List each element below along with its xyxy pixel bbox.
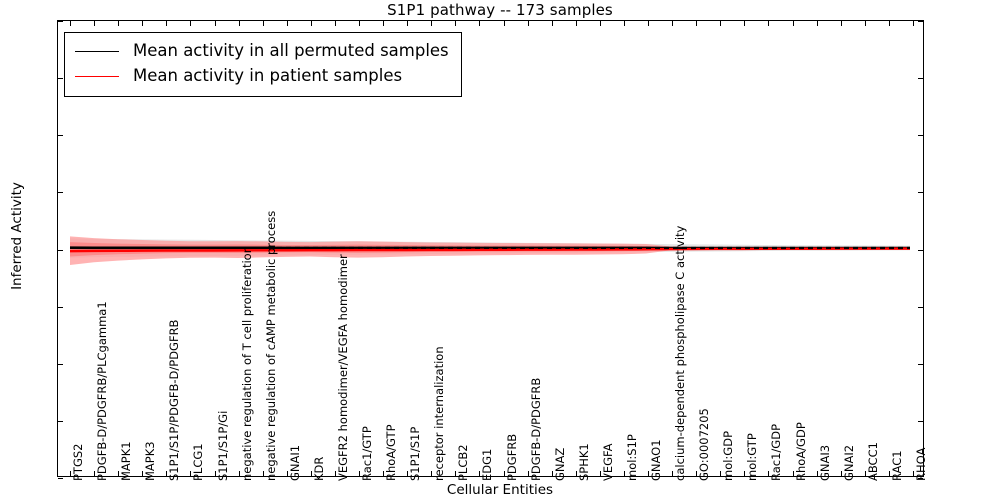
x-tick-label-text: GNAI3 — [820, 445, 832, 481]
x-tick-label-text: SPHK1 — [579, 443, 591, 481]
x-tick-label: receptor internalization — [430, 346, 442, 481]
x-tick-label: GO:0007205 — [695, 408, 707, 481]
x-tick-mark — [455, 21, 456, 26]
x-tick-label-text: RAC1 — [892, 450, 904, 481]
y-tick-mark — [918, 135, 923, 136]
y-tick-mark — [58, 478, 63, 479]
x-tick-label: RAC1 — [888, 450, 900, 481]
y-tick-mark — [918, 364, 923, 365]
x-tick-mark — [263, 21, 264, 26]
x-tick-mark — [648, 21, 649, 26]
x-tick-label-text: PLCB2 — [459, 444, 471, 481]
y-tick-mark — [58, 421, 63, 422]
x-tick-mark — [287, 21, 288, 26]
x-tick-label: ABCC1 — [864, 442, 876, 481]
x-tick-label: PLCB2 — [454, 444, 466, 481]
x-axis-title: Cellular Entities — [0, 482, 1000, 498]
x-tick-mark — [335, 21, 336, 26]
x-tick-label-text: MAPK1 — [121, 441, 133, 481]
x-tick-mark — [841, 21, 842, 26]
x-tick-label: negative regulation of cAMP metabolic pr… — [262, 211, 274, 481]
legend-item-patient: Mean activity in patient samples — [75, 64, 449, 89]
x-tick-mark — [744, 21, 745, 26]
x-tick-label-text: GNAO1 — [651, 439, 663, 481]
x-tick-mark — [720, 21, 721, 26]
x-tick-label-text: receptor internalization — [434, 346, 446, 481]
x-tick-label: calcium-dependent phospholipase C activi… — [671, 226, 683, 481]
x-tick-label-text: mol:S1P — [627, 434, 639, 481]
x-tick-label-text: GO:0007205 — [699, 408, 711, 481]
x-tick-label: PDGFB-D/PDGFRB — [527, 378, 539, 481]
x-tick-label: GNAI1 — [286, 445, 298, 481]
x-tick-label: RhoA/GTP — [382, 424, 394, 481]
x-tick-label: VEGFA — [599, 444, 611, 481]
x-tick-label-text: GNAZ — [555, 448, 567, 481]
y-tick-mark — [58, 364, 63, 365]
x-tick-label: PLCG1 — [189, 443, 201, 481]
y-tick-mark — [58, 192, 63, 193]
y-tick-mark — [918, 250, 923, 251]
x-tick-label-text: VEGFA — [603, 444, 615, 481]
x-tick-mark — [672, 21, 673, 26]
x-tick-label: negative regulation of T cell proliferat… — [238, 246, 250, 481]
x-tick-label: PDGFRB — [503, 434, 515, 481]
x-tick-mark — [70, 21, 71, 26]
x-tick-label: Rac1/GTP — [358, 426, 370, 481]
x-tick-label: GNAO1 — [647, 439, 659, 481]
x-tick-mark — [600, 21, 601, 26]
x-tick-mark — [383, 21, 384, 26]
x-tick-label: MAPK1 — [117, 441, 129, 481]
x-tick-label-text: PDGFRB — [507, 434, 519, 481]
x-tick-label-text: calcium-dependent phospholipase C activi… — [675, 226, 687, 481]
x-tick-label-text: RhoA/GTP — [386, 424, 398, 481]
x-tick-label: RhoA/GDP — [792, 422, 804, 481]
x-tick-label: MAPK3 — [141, 441, 153, 481]
x-tick-label-text: mol:GDP — [723, 431, 735, 481]
legend-line-permuted-icon — [75, 51, 119, 52]
x-tick-mark — [311, 21, 312, 26]
x-tick-label: RHOA — [912, 448, 924, 481]
x-tick-label: S1P1/S1P/Gi — [214, 411, 226, 481]
x-tick-label-text: PDGFB-D/PDGFRB/PLCgamma1 — [97, 301, 109, 481]
x-tick-mark — [552, 21, 553, 26]
x-tick-label-text: PDGFB-D/PDGFRB — [531, 378, 543, 481]
x-tick-label-text: negative regulation of cAMP metabolic pr… — [266, 211, 278, 481]
x-tick-mark — [504, 21, 505, 26]
x-tick-mark — [793, 21, 794, 26]
x-tick-label-text: PTGS2 — [73, 444, 85, 482]
y-tick-mark — [918, 307, 923, 308]
x-tick-label-text: Rac1/GTP — [362, 426, 374, 481]
x-tick-label-text: S1P1/S1P/Gi — [218, 411, 230, 481]
x-tick-label: GNAI2 — [840, 445, 852, 481]
x-tick-label: PTGS2 — [69, 444, 81, 482]
x-tick-mark — [576, 21, 577, 26]
x-tick-label: EDG1 — [478, 449, 490, 481]
x-tick-mark — [817, 21, 818, 26]
x-tick-mark — [431, 21, 432, 26]
y-tick-mark — [918, 78, 923, 79]
x-tick-mark — [407, 21, 408, 26]
x-tick-mark — [528, 21, 529, 26]
x-tick-mark — [865, 21, 866, 26]
legend-label-permuted: Mean activity in all permuted samples — [133, 43, 449, 60]
x-tick-label: KDR — [310, 457, 322, 481]
legend-label-patient: Mean activity in patient samples — [133, 68, 402, 85]
x-tick-mark — [479, 21, 480, 26]
x-tick-label: S1P1/S1P/PDGFB-D/PDGFRB — [165, 320, 177, 481]
x-tick-label-text: GNAI2 — [844, 445, 856, 481]
x-tick-label: Rac1/GDP — [767, 424, 779, 481]
x-tick-label-text: PLCG1 — [194, 443, 206, 481]
y-tick-mark — [58, 78, 63, 79]
x-tick-label: SPHK1 — [575, 443, 587, 481]
x-tick-label-text: RHOA — [916, 448, 928, 481]
x-tick-label-text: RhoA/GDP — [796, 422, 808, 481]
x-tick-label: mol:S1P — [623, 434, 635, 481]
x-tick-mark — [215, 21, 216, 26]
x-tick-label-text: S1P1/S1P — [410, 427, 422, 481]
y-tick-mark — [918, 192, 923, 193]
x-tick-label-text: EDG1 — [483, 449, 495, 481]
y-tick-mark — [58, 307, 63, 308]
x-tick-label: mol:GDP — [719, 431, 731, 481]
x-tick-label: S1P1/S1P — [406, 427, 418, 481]
x-tick-mark — [118, 21, 119, 26]
x-tick-label-text: KDR — [314, 457, 326, 481]
y-tick-mark — [58, 21, 63, 22]
x-tick-mark — [624, 21, 625, 26]
y-tick-mark — [58, 135, 63, 136]
legend-line-patient-icon — [75, 76, 119, 77]
x-tick-mark — [190, 21, 191, 26]
x-tick-label: PDGFB-D/PDGFRB/PLCgamma1 — [93, 301, 105, 481]
x-tick-mark — [768, 21, 769, 26]
x-tick-label-text: mol:GTP — [748, 433, 760, 481]
x-tick-mark — [696, 21, 697, 26]
y-axis-title: Inferred Activity — [9, 126, 25, 346]
x-tick-mark — [913, 21, 914, 26]
x-tick-mark — [889, 21, 890, 26]
legend-item-permuted: Mean activity in all permuted samples — [75, 39, 449, 64]
x-tick-label-text: GNAI1 — [290, 445, 302, 481]
x-tick-label: GNAI3 — [816, 445, 828, 481]
x-tick-mark — [94, 21, 95, 26]
x-tick-label: GNAZ — [551, 448, 563, 481]
y-tick-mark — [918, 21, 923, 22]
x-tick-label: VEGFR2 homodimer/VEGFA homodimer — [334, 254, 346, 481]
x-tick-mark — [142, 21, 143, 26]
chart-legend: Mean activity in all permuted samples Me… — [64, 32, 462, 97]
chart-title: S1P1 pathway -- 173 samples — [0, 1, 1000, 19]
x-tick-label-text: S1P1/S1P/PDGFB-D/PDGFRB — [170, 320, 182, 481]
y-tick-mark — [58, 250, 63, 251]
chart-root: S1P1 pathway -- 173 samples Inferred Act… — [0, 0, 1000, 500]
x-tick-label-text: ABCC1 — [868, 442, 880, 481]
x-tick-label: mol:GTP — [743, 433, 755, 481]
x-tick-label-text: Rac1/GDP — [772, 424, 784, 481]
x-tick-mark — [239, 21, 240, 26]
y-tick-mark — [918, 421, 923, 422]
x-tick-mark — [166, 21, 167, 26]
x-tick-label-text: MAPK3 — [145, 441, 157, 481]
x-tick-label-text: negative regulation of T cell proliferat… — [242, 246, 254, 481]
x-tick-label-text: VEGFR2 homodimer/VEGFA homodimer — [338, 254, 350, 481]
x-tick-mark — [359, 21, 360, 26]
